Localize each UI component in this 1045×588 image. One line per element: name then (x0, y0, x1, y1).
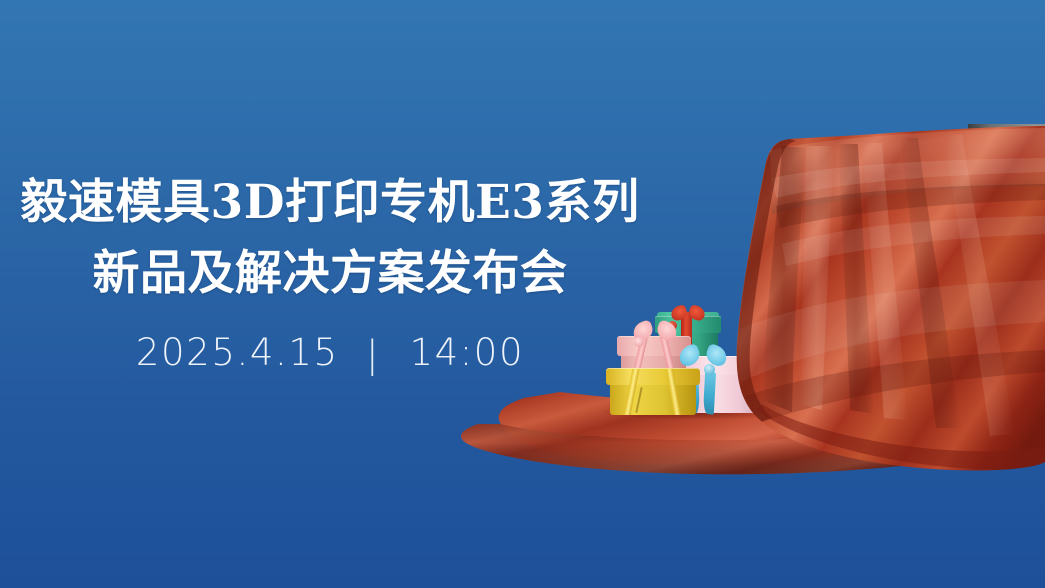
poster-text-block: 毅速模具3D打印专机E3系列 新品及解决方案发布会 2025.4.15 | 14… (0, 168, 660, 374)
gift-box-yellow (606, 368, 700, 416)
event-datetime: 2025.4.15 | 14:00 (0, 332, 660, 374)
gift-box-body (690, 374, 764, 413)
gift-ribbon-tail (703, 371, 716, 415)
gift-bow (679, 343, 727, 369)
event-date: 2025.4.15 (136, 331, 339, 374)
datetime-separator: | (366, 334, 380, 376)
page-title-line-2: 新品及解决方案发布会 (0, 238, 660, 310)
gift-bow (671, 304, 705, 321)
page-title-line-1: 毅速模具3D打印专机E3系列 (0, 168, 660, 238)
event-time: 14:00 (409, 331, 524, 374)
gift-bow-knot (704, 364, 715, 375)
event-poster: 毅速模具3D打印专机E3系列 新品及解决方案发布会 2025.4.15 | 14… (0, 0, 1045, 588)
gift-box-body (610, 384, 696, 415)
